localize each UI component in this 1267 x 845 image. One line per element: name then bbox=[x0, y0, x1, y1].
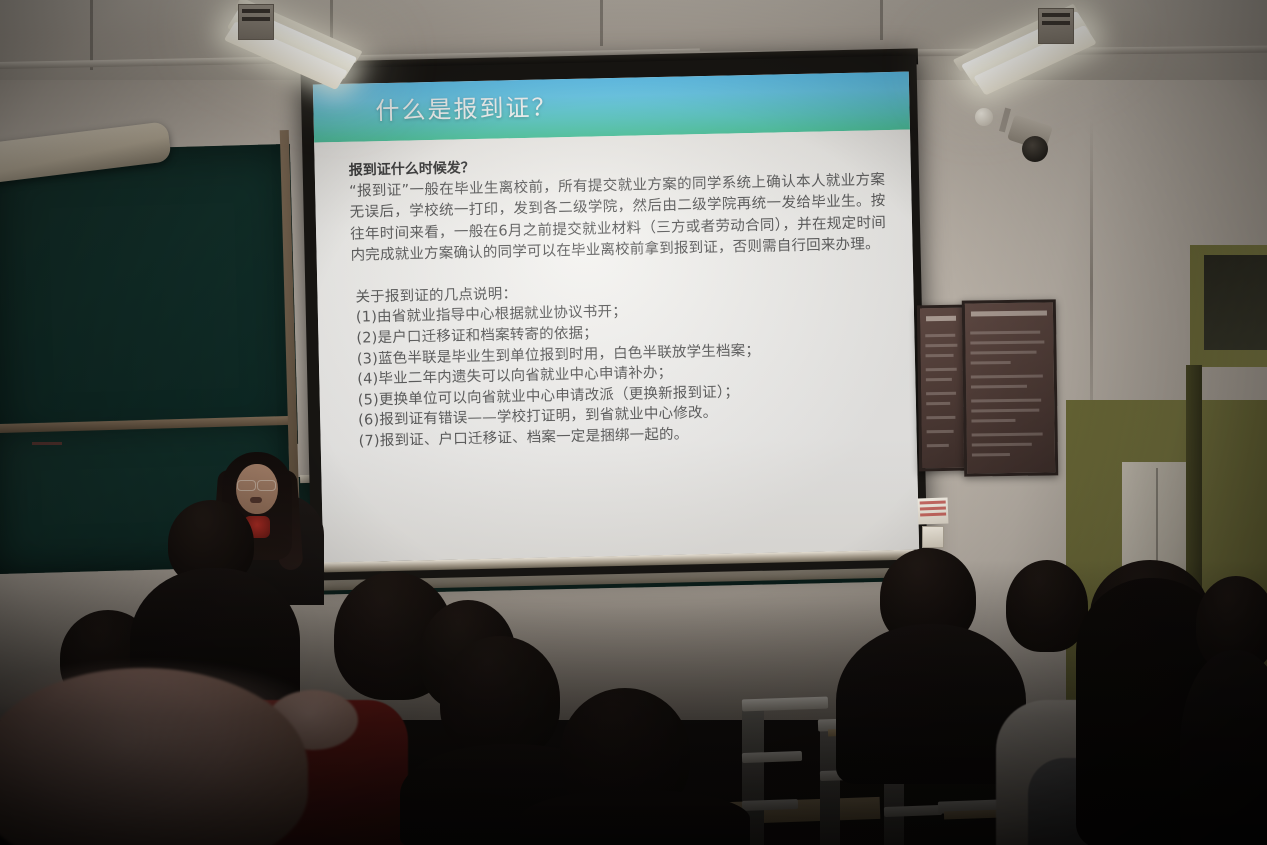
door-transom-glass bbox=[1204, 255, 1267, 350]
notice-title-line bbox=[971, 310, 1047, 316]
notice-board-left bbox=[917, 305, 967, 472]
light-switch[interactable] bbox=[922, 526, 944, 548]
chalk-mark bbox=[32, 442, 62, 445]
ceiling-junction-box bbox=[1038, 8, 1074, 44]
slide-body: 报到证什么时候发？ “报到证”一般在毕业生离校前，所有提交就业方案的同学系统上确… bbox=[314, 130, 919, 563]
student-head bbox=[1006, 560, 1088, 652]
ceiling-junction-box bbox=[238, 4, 274, 40]
chalkboard-left bbox=[0, 144, 298, 452]
eyeglasses-icon bbox=[257, 480, 276, 491]
slide-title: 什么是报到证？ bbox=[375, 87, 558, 126]
projection-screen: 什么是报到证？ 报到证什么时候发？ “报到证”一般在毕业生离校前，所有提交就业方… bbox=[313, 72, 919, 563]
notice-title-line bbox=[926, 316, 956, 321]
camera-lens-icon bbox=[1022, 136, 1048, 162]
student-shoulders bbox=[520, 790, 750, 845]
slide-paragraph: “报到证”一般在毕业生离校前，所有提交就业方案的同学系统上确认本人就业方案无误后… bbox=[349, 170, 887, 267]
desk-shelf bbox=[742, 799, 798, 811]
wall-notice bbox=[918, 497, 949, 524]
desk-shelf bbox=[742, 751, 802, 763]
student-head bbox=[440, 636, 560, 760]
notice-board-right bbox=[962, 299, 1058, 476]
camera-mount-dome bbox=[975, 108, 993, 126]
classroom-photo: 什么是报到证？ 报到证什么时候发？ “报到证”一般在毕业生离校前，所有提交就业方… bbox=[0, 0, 1267, 845]
desk-shelf bbox=[884, 805, 942, 817]
presenter-mouth bbox=[250, 497, 262, 503]
eyeglasses-icon bbox=[237, 480, 256, 491]
ceiling-seam bbox=[880, 0, 883, 40]
ceiling-seam bbox=[600, 0, 603, 46]
